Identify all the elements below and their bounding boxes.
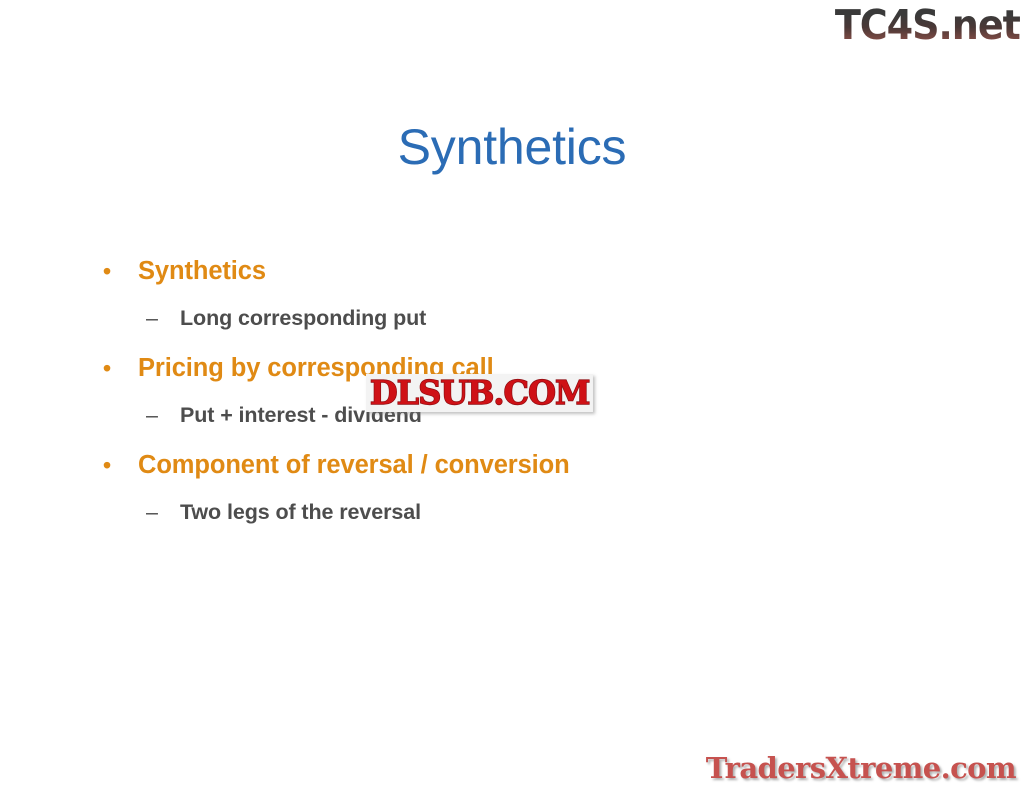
bullet-level1-text: Component of reversal / conversion (138, 451, 570, 479)
tradersxtreme-logo: TradersXtreme.com (706, 751, 1016, 785)
bullet-level1: • Synthetics (96, 249, 956, 293)
bullet-dash-icon: – (146, 393, 158, 437)
dlsub-watermark: DLSUB.COM (366, 374, 593, 412)
bullet-level2: – Two legs of the reversal (96, 490, 956, 534)
tc4s-logo: TC4S.net (835, 2, 1020, 48)
slide-title: Synthetics (0, 118, 1024, 176)
bullet-dot-icon: • (103, 443, 111, 487)
presentation-slide: TC4S.net Synthetics • Synthetics – Long … (0, 0, 1024, 791)
bullet-dash-icon: – (146, 296, 158, 340)
bullet-dot-icon: • (103, 249, 111, 293)
bullet-level2-text: Two legs of the reversal (180, 500, 421, 524)
bullet-dot-icon: • (103, 346, 111, 390)
bullet-level2: – Long corresponding put (96, 296, 956, 340)
bullet-level2-text: Long corresponding put (180, 306, 426, 330)
bullet-level1-text: Synthetics (138, 257, 266, 285)
bullet-level1: • Component of reversal / conversion (96, 443, 956, 487)
bullet-dash-icon: – (146, 490, 158, 534)
